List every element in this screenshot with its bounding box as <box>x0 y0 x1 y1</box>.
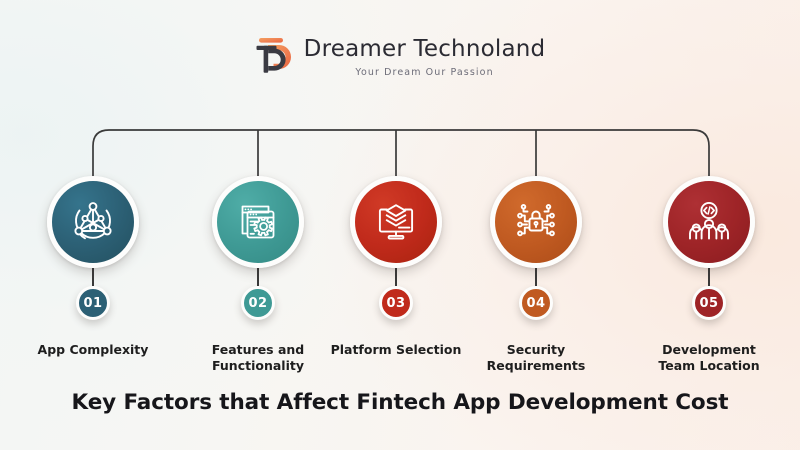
brand-name: Dreamer Technoland <box>304 38 546 61</box>
brand-text: Dreamer Technoland Your Dream Our Passio… <box>304 38 546 78</box>
step-badge-2: 02 <box>241 286 275 320</box>
td-monogram-icon <box>255 36 293 80</box>
step-label-1: App Complexity <box>38 342 149 358</box>
infographic-canvas: Dreamer Technoland Your Dream Our Passio… <box>0 0 800 450</box>
step-stem-5 <box>708 268 710 286</box>
step-icon-circle-3[interactable] <box>350 176 442 268</box>
browser-windows-gear-icon <box>233 197 283 247</box>
brand-tagline: Your Dream Our Passion <box>355 68 493 78</box>
step-stem-1 <box>92 268 94 286</box>
step-stem-2 <box>257 268 259 286</box>
step-badge-1: 01 <box>76 286 110 320</box>
step-badge-3: 03 <box>379 286 413 320</box>
step-item-2[interactable]: 02 Features and Functionality <box>183 176 333 374</box>
step-stem-4 <box>535 268 537 286</box>
page-title: Key Factors that Affect Fintech App Deve… <box>0 390 800 415</box>
step-item-3[interactable]: 03 Platform Selection <box>321 176 471 358</box>
step-stem-3 <box>395 268 397 286</box>
monitor-layers-icon <box>371 197 421 247</box>
step-badge-5: 05 <box>692 286 726 320</box>
step-icon-circle-4[interactable] <box>490 176 582 268</box>
step-label-5: Development Team Location <box>658 342 759 374</box>
code-team-icon <box>684 197 734 247</box>
step-icon-circle-1[interactable] <box>47 176 139 268</box>
padlock-circuit-icon <box>511 197 561 247</box>
step-label-4: Security Requirements <box>487 342 586 374</box>
brand-logo: Dreamer Technoland Your Dream Our Passio… <box>0 36 800 80</box>
step-badge-4: 04 <box>519 286 553 320</box>
step-icon-circle-5[interactable] <box>663 176 755 268</box>
step-label-3: Platform Selection <box>331 342 462 358</box>
step-label-2: Features and Functionality <box>212 342 305 374</box>
network-nodes-icon <box>68 197 118 247</box>
step-icon-circle-2[interactable] <box>212 176 304 268</box>
step-item-5[interactable]: 05 Development Team Location <box>634 176 784 374</box>
step-item-1[interactable]: 01 App Complexity <box>18 176 168 358</box>
step-item-4[interactable]: 04 Security Requirements <box>461 176 611 374</box>
